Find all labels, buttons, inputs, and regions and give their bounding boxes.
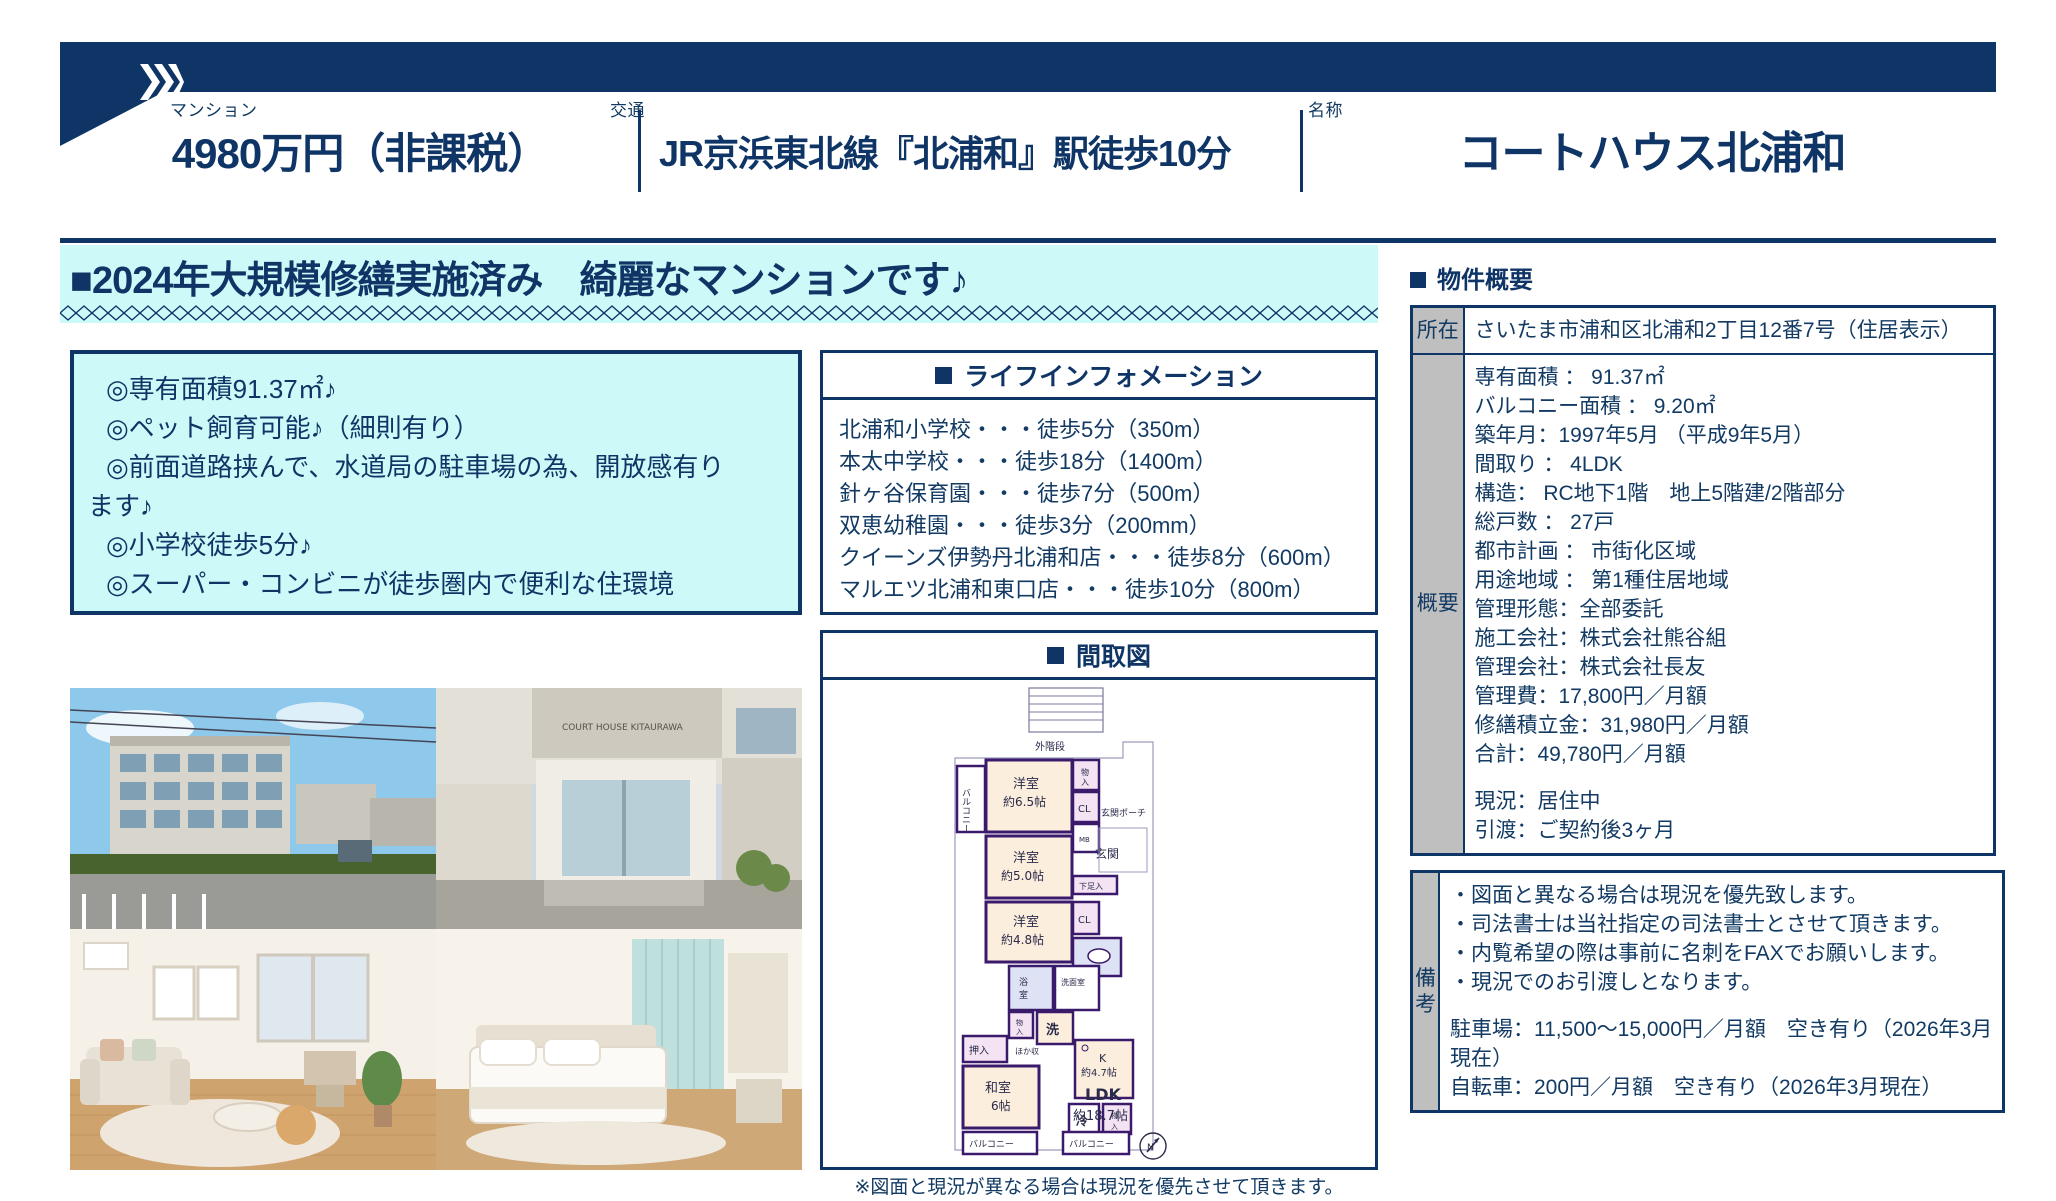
square-bullet-icon	[1410, 272, 1426, 288]
svg-text:和室: 和室	[985, 1080, 1011, 1096]
remark-extra: 現在）	[1450, 1044, 1992, 1073]
list-item: 北浦和小学校・・・徒歩5分（350m）	[839, 414, 1375, 446]
svg-text:バルコニー: バルコニー	[1069, 1139, 1114, 1150]
header-band	[60, 42, 1996, 92]
header-divider-2	[1300, 110, 1303, 192]
features-box: ◎専有面積91.37㎡♪ ◎ペット飼育可能♪（細則有り） ◎前面道路挟んで、水道…	[70, 350, 802, 615]
svg-text:洋室: 洋室	[1013, 850, 1039, 866]
photo-grid: COURT HOUSE KITAURAWA	[70, 688, 802, 1170]
remark-extra: 駐車場：11,500～15,000円／月額 空き有り（2026年3月	[1450, 1015, 1992, 1044]
svg-text:MB: MB	[1079, 836, 1090, 844]
header-price-column: マンション 4980万円（非課税）	[60, 98, 580, 192]
header-columns: マンション 4980万円（非課税） 交通 JR京浜東北線『北浦和』駅徒歩10分 …	[60, 98, 1996, 192]
header: マンション 4980万円（非課税） 交通 JR京浜東北線『北浦和』駅徒歩10分 …	[60, 42, 1996, 192]
square-bullet-icon	[935, 367, 952, 384]
svg-text:洗: 洗	[1046, 1022, 1059, 1038]
list-item: クイーンズ伊勢丹北浦和店・・・徒歩8分（600m）	[839, 542, 1375, 574]
svg-text:外階段: 外階段	[1035, 740, 1065, 753]
remarks-table: 備考 ・図面と異なる場合は現況を優先致します。 ・司法書士は当社指定の司法書士と…	[1410, 870, 2005, 1113]
living-room-photo	[70, 929, 436, 1170]
feature-line: ◎ペット飼育可能♪（細則有り）	[88, 409, 786, 448]
overview-line: 管理会社：株式会社長友	[1475, 653, 1984, 682]
overview-line: 合計：49,780円／月額	[1475, 740, 1984, 769]
building-exterior-photo	[70, 688, 436, 929]
list-item: 双恵幼稚園・・・徒歩3分（200mm）	[839, 510, 1375, 542]
svg-text:玄関ポーチ: 玄関ポーチ	[1101, 807, 1146, 819]
life-information-title: ライフインフォメーション	[964, 357, 1263, 393]
overview-label: 概要	[1412, 354, 1464, 855]
svg-text:約5.0帖: 約5.0帖	[1001, 868, 1044, 883]
bedroom-photo	[436, 929, 802, 1170]
table-row: 所在 さいたま市浦和区北浦和2丁目12番7号（住居表示）	[1412, 307, 1995, 355]
svg-text:入: 入	[1016, 1028, 1023, 1036]
life-information-header: ライフインフォメーション	[820, 350, 1378, 400]
svg-text:洗面室: 洗面室	[1061, 977, 1085, 987]
remarks-label: 備考	[1412, 872, 1440, 1112]
overview-line: 構造： RC地下1階 地上5階建/2階部分	[1475, 479, 1984, 508]
life-information-body: 北浦和小学校・・・徒歩5分（350m） 本太中学校・・・徒歩18分（1400m）…	[820, 400, 1378, 615]
svg-text:CL: CL	[1078, 804, 1091, 815]
overview-value: 専有面積 ： 91.37㎡ バルコニー面積 ： 9.20㎡ 築年月：1997年5…	[1464, 354, 1995, 855]
overview-line: 施工会社：株式会社熊谷組	[1475, 624, 1984, 653]
overview-status-line: 引渡：ご契約後3ヶ月	[1475, 816, 1984, 845]
summary-title-row: 物件概要	[1410, 260, 1996, 295]
floorplan-title: 間取図	[1076, 637, 1151, 673]
svg-text:ほか収: ほか収	[1015, 1046, 1039, 1056]
svg-text:約6.5帖: 約6.5帖	[1003, 794, 1046, 809]
svg-text:6帖: 6帖	[991, 1098, 1011, 1113]
name-value: コートハウス北浦和	[1308, 124, 1996, 184]
property-summary: 物件概要 所在 さいたま市浦和区北浦和2丁目12番7号（住居表示） 概要 専有面…	[1410, 260, 1996, 1113]
overview-line: 間取り ： 4LDK	[1475, 450, 1984, 479]
summary-title: 物件概要	[1437, 267, 1533, 294]
location-value: さいたま市浦和区北浦和2丁目12番7号（住居表示）	[1464, 307, 1995, 355]
overview-line: 都市計画 ： 市街化区域	[1475, 537, 1984, 566]
remark-bullet: ・現況でのお引渡しとなります。	[1450, 968, 1992, 997]
header-access-column: 交通 JR京浜東北線『北浦和』駅徒歩10分	[580, 98, 1280, 192]
svg-text:洋室: 洋室	[1013, 776, 1039, 792]
header-divider-1	[638, 110, 641, 192]
svg-text:約4.8帖: 約4.8帖	[1001, 932, 1044, 947]
overview-line: 築年月：1997年5月 （平成9年5月）	[1475, 421, 1984, 450]
svg-text:室: 室	[1019, 989, 1028, 1001]
feature-line: ◎小学校徒歩5分♪	[88, 526, 786, 565]
summary-table: 所在 さいたま市浦和区北浦和2丁目12番7号（住居表示） 概要 専有面積 ： 9…	[1410, 305, 1996, 856]
floorplan-header: 間取図	[820, 630, 1378, 680]
spacer	[1450, 997, 1992, 1015]
svg-text:下足入: 下足入	[1079, 882, 1103, 891]
catchphrase-banner: ■2024年大規模修繕実施済み 綺麗なマンションです♪	[60, 245, 1378, 307]
list-item: 本太中学校・・・徒歩18分（1400m）	[839, 446, 1375, 478]
entrance-photo: COURT HOUSE KITAURAWA	[436, 688, 802, 929]
overview-line: 用途地域 ： 第1種住居地域	[1475, 566, 1984, 595]
overview-line: 修繕積立金：31,980円／月額	[1475, 711, 1984, 740]
svg-text:K: K	[1099, 1052, 1107, 1065]
svg-text:CL: CL	[1078, 915, 1091, 926]
overview-line: バルコニー面積 ： 9.20㎡	[1475, 392, 1984, 421]
floorplan-panel: 間取図 外階段 バルコニー	[820, 630, 1378, 1170]
remark-extra: 自転車：200円／月額 空き有り（2026年3月現在）	[1450, 1073, 1992, 1102]
floorplan-drawing: 外階段 バルコニー 洋室 約6.5帖 物 入 CL	[820, 680, 1378, 1170]
list-item: 針ヶ谷保育園・・・徒歩7分（500m）	[839, 478, 1375, 510]
svg-text:約18.7帖: 約18.7帖	[1073, 1109, 1128, 1124]
list-item: マルエツ北浦和東口店・・・徒歩10分（800m）	[839, 574, 1375, 606]
catchphrase-text: ■2024年大規模修繕実施済み 綺麗なマンションです♪	[70, 249, 968, 304]
svg-text:COURT HOUSE KITAURAWA: COURT HOUSE KITAURAWA	[562, 723, 684, 733]
svg-text:入: 入	[1111, 1123, 1118, 1131]
name-label: 名称	[1308, 98, 1996, 124]
price-value: 4980万円（非課税）	[170, 124, 580, 184]
remark-bullet: ・司法書士は当社指定の司法書士とさせて頂きます。	[1450, 910, 1992, 939]
access-value: JR京浜東北線『北浦和』駅徒歩10分	[610, 124, 1280, 184]
feature-line: ◎専有面積91.37㎡♪	[88, 370, 786, 409]
svg-text:LDK: LDK	[1085, 1085, 1121, 1104]
overview-line: 管理費：17,800円／月額	[1475, 682, 1984, 711]
overview-line: 総戸数 ： 27戸	[1475, 508, 1984, 537]
svg-text:バルコニー: バルコニー	[969, 1139, 1014, 1150]
svg-text:バルコニー: バルコニー	[960, 788, 971, 833]
svg-text:物: 物	[1016, 1018, 1023, 1027]
table-row: 備考 ・図面と異なる場合は現況を優先致します。 ・司法書士は当社指定の司法書士と…	[1412, 872, 2004, 1112]
svg-text:約4.7帖: 約4.7帖	[1081, 1066, 1117, 1079]
access-label: 交通	[610, 98, 1280, 124]
overview-status-line: 現況：居住中	[1475, 787, 1984, 816]
feature-line: ◎前面道路挟んで、水道局の駐車場の為、開放感有り	[88, 448, 786, 487]
header-bottom-rule	[60, 238, 1996, 243]
floorplan-note: ※図面と現況が異なる場合は現況を優先させて頂きます。	[820, 1172, 1378, 1199]
square-bullet-icon	[1047, 647, 1064, 664]
svg-text:浴: 浴	[1019, 977, 1028, 988]
price-label: マンション	[170, 98, 580, 124]
svg-text:物: 物	[1081, 767, 1089, 777]
overview-line: 専有面積 ： 91.37㎡	[1475, 363, 1984, 392]
life-information-panel: ライフインフォメーション 北浦和小学校・・・徒歩5分（350m） 本太中学校・・…	[820, 350, 1378, 615]
table-row: 概要 専有面積 ： 91.37㎡ バルコニー面積 ： 9.20㎡ 築年月：199…	[1412, 354, 1995, 855]
feature-line-continued: ます♪	[88, 487, 786, 526]
svg-text:押入: 押入	[969, 1044, 989, 1057]
location-label: 所在	[1412, 307, 1464, 355]
header-name-column: 名称 コートハウス北浦和	[1280, 98, 1996, 192]
svg-text:洋室: 洋室	[1013, 914, 1039, 930]
spacer	[1475, 769, 1984, 787]
svg-text:N: N	[1147, 1143, 1154, 1153]
remarks-value: ・図面と異なる場合は現況を優先致します。 ・司法書士は当社指定の司法書士とさせて…	[1439, 872, 2004, 1112]
remark-bullet: ・内覧希望の際は事前に名刺をFAXでお願いします。	[1450, 939, 1992, 968]
zigzag-divider	[60, 303, 1378, 323]
svg-text:入: 入	[1081, 778, 1089, 787]
overview-line: 管理形態：全部委託	[1475, 595, 1984, 624]
property-flyer-page: マンション 4980万円（非課税） 交通 JR京浜東北線『北浦和』駅徒歩10分 …	[0, 0, 2056, 1201]
feature-line: ◎スーパー・コンビニが徒歩圏内で便利な住環境	[88, 565, 786, 604]
remark-bullet: ・図面と異なる場合は現況を優先致します。	[1450, 881, 1992, 910]
